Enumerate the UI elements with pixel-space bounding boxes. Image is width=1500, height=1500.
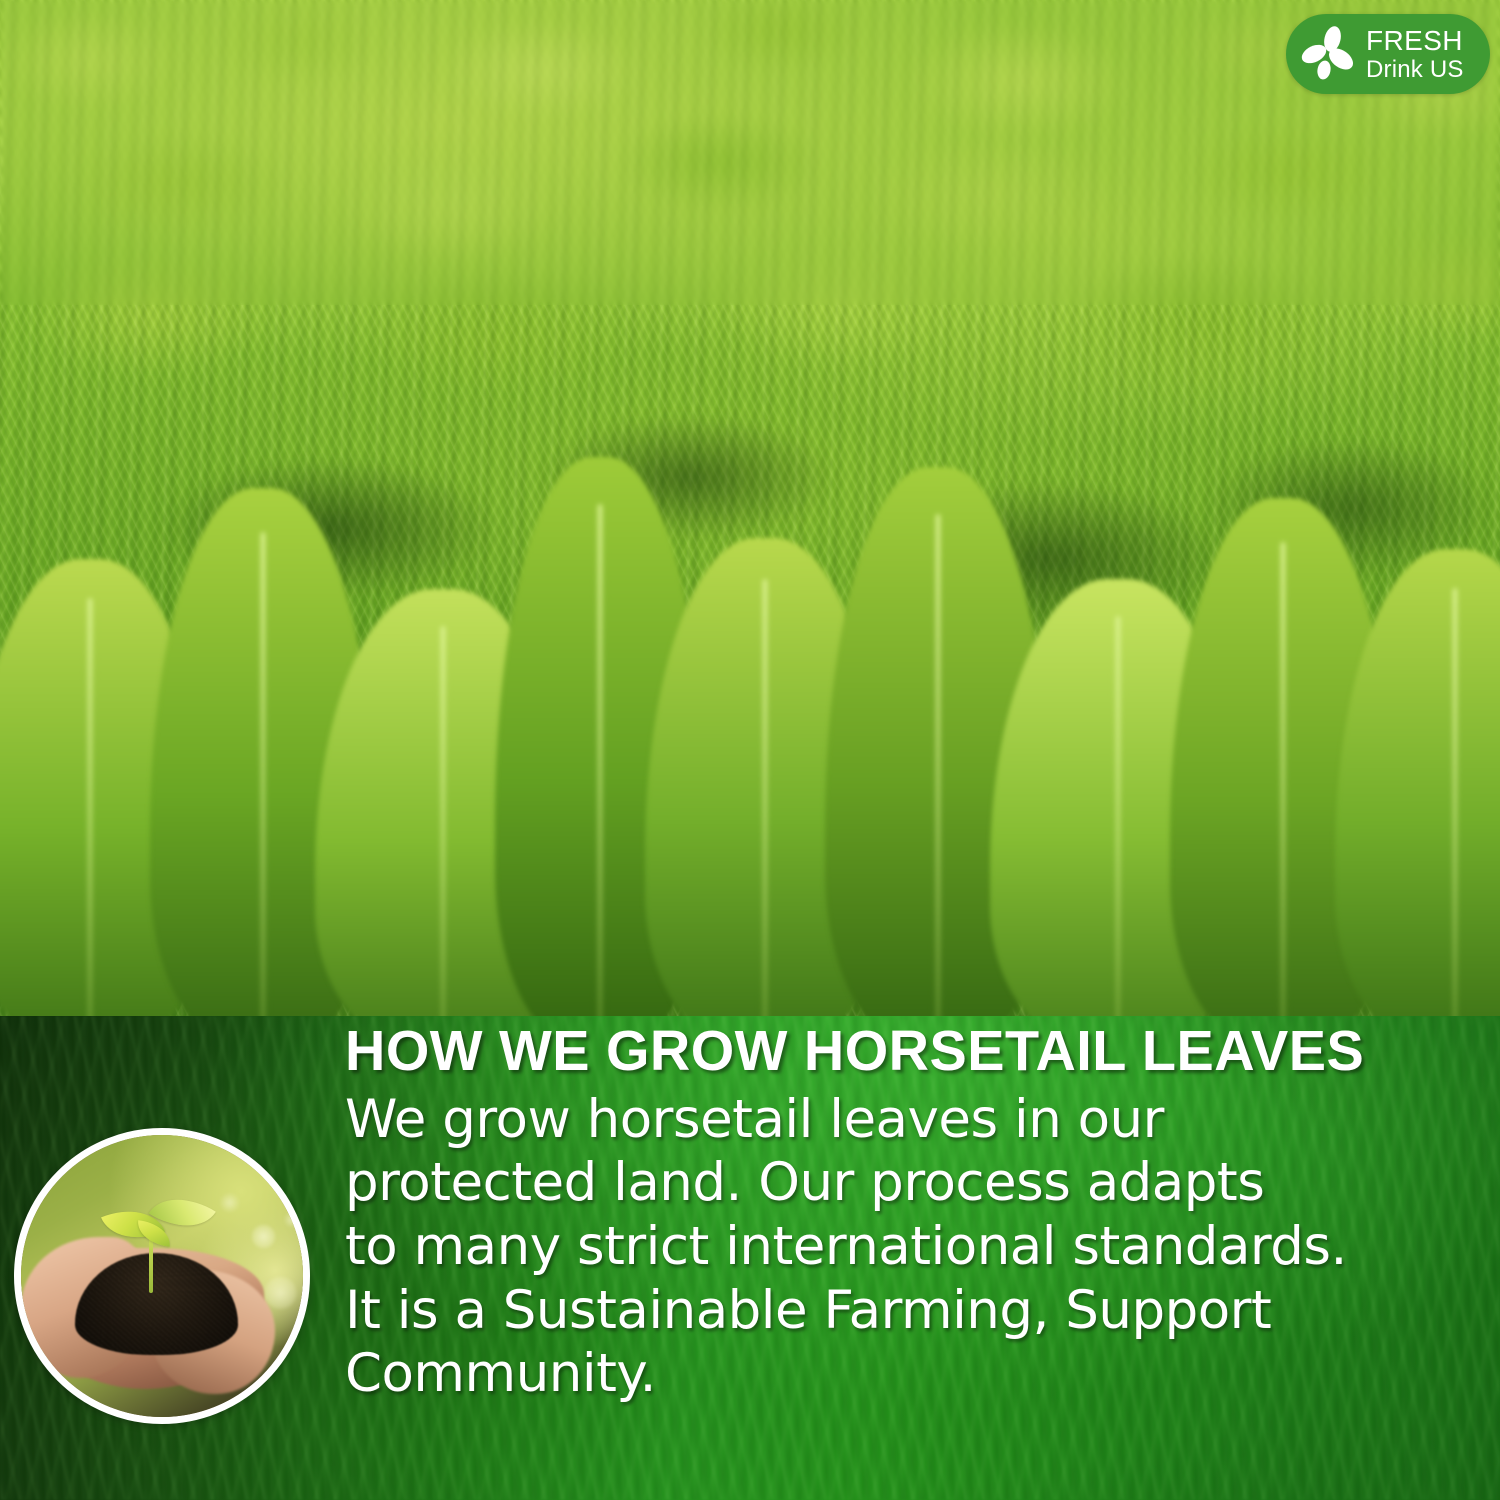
- banner-paragraph: We grow horsetail leaves in our protecte…: [345, 1088, 1478, 1406]
- four-leaf-sprig-icon: [1298, 22, 1362, 86]
- banner-headline: HOW WE GROW HORSETAIL LEAVES: [345, 1022, 1455, 1082]
- hands-holding-seedling-photo: [14, 1128, 310, 1424]
- paragraph-line: protected land. Our process adapts: [345, 1151, 1478, 1215]
- paragraph-line: to many strict international standards.: [345, 1215, 1478, 1279]
- paragraph-line: It is a Sustainable Farming, Support: [345, 1279, 1478, 1343]
- paragraph-line: Community.: [345, 1342, 1478, 1406]
- fresh-drink-us-logo[interactable]: FRESH Drink US: [1286, 14, 1490, 94]
- logo-title: FRESH: [1366, 27, 1464, 55]
- paragraph-line: We grow horsetail leaves in our: [345, 1088, 1478, 1152]
- logo-subtitle: Drink US: [1366, 58, 1464, 82]
- banner-text-block: HOW WE GROW HORSETAIL LEAVES We grow hor…: [345, 1022, 1478, 1406]
- logo-text-group: FRESH Drink US: [1366, 27, 1464, 82]
- poster-root: FRESH Drink US HOW WE GROW HORSETAIL LEA…: [0, 0, 1500, 1500]
- horsetail-field-photo: [0, 0, 1500, 1016]
